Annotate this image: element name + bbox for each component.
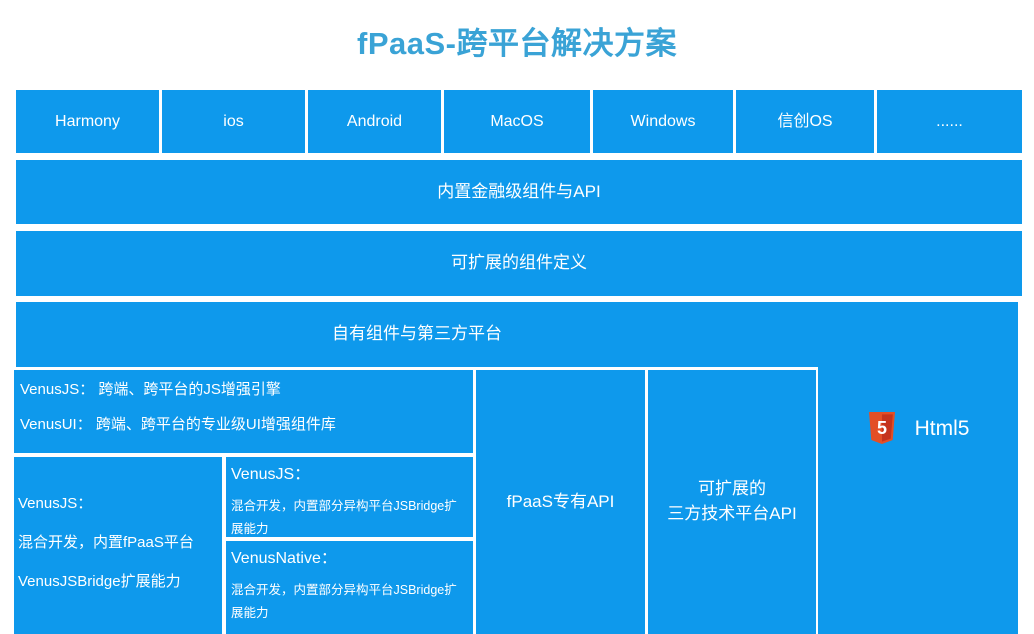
column-label-line-1: 可扩展的 bbox=[667, 477, 796, 502]
html5-badge: 5 Html5 bbox=[818, 412, 1018, 446]
column-label-line-2: 三方技术平台API bbox=[667, 502, 796, 527]
os-cell-label: 信创OS bbox=[777, 110, 832, 133]
bottom-stack-heading: VenusNative： bbox=[231, 547, 468, 570]
os-cell-label: MacOS bbox=[490, 110, 543, 133]
fpaas-architecture-diagram: fPaaS-跨平台解决方案 Harmony ios Android MacOS … bbox=[0, 0, 1034, 634]
os-cell-macos[interactable]: MacOS bbox=[444, 90, 590, 153]
column-fpaas-proprietary-api[interactable]: fPaaS专有API bbox=[476, 370, 645, 634]
html5-icon: 5 bbox=[867, 412, 897, 446]
bottom-left-line-2: 混合开发，内置fPaaS平台 bbox=[18, 532, 218, 554]
venus-summary-line-1: VenusJS： 跨端、跨平台的JS增强引擎 bbox=[20, 379, 467, 401]
bottom-left-line-1: VenusJS： bbox=[18, 493, 218, 515]
venus-summary-line-2: VenusUI： 跨端、跨平台的专业级UI增强组件库 bbox=[20, 414, 467, 436]
band-extensible-component-definition[interactable]: 可扩展的组件定义 bbox=[16, 231, 1022, 296]
os-cell-label: ...... bbox=[936, 110, 963, 133]
band-label: 自有组件与第三方平台 bbox=[332, 322, 502, 347]
os-cell-label: Harmony bbox=[55, 110, 120, 133]
bottom-stack-body: 混合开发，内置部分异构平台JSBridge扩展能力 bbox=[231, 579, 468, 625]
bottom-stack-cell-venusjs[interactable]: VenusJS： 混合开发，内置部分异构平台JSBridge扩展能力 bbox=[226, 457, 473, 537]
os-cell-ios[interactable]: ios bbox=[162, 90, 305, 153]
os-cell-label: Windows bbox=[631, 110, 696, 133]
column-label: fPaaS专有API bbox=[507, 490, 615, 515]
os-cell-more[interactable]: ...... bbox=[877, 90, 1022, 153]
bottom-left-line-3: VenusJSBridge扩展能力 bbox=[18, 571, 218, 593]
page-title: fPaaS-跨平台解决方案 bbox=[0, 18, 1034, 63]
os-cell-xinchuang-os[interactable]: 信创OS bbox=[736, 90, 874, 153]
band-own-components-and-thirdparty-platform[interactable]: 自有组件与第三方平台 bbox=[16, 302, 818, 367]
column-thirdparty-tech-platform-api[interactable]: 可扩展的 三方技术平台API bbox=[648, 370, 816, 634]
os-cell-label: ios bbox=[223, 110, 243, 133]
os-cell-android[interactable]: Android bbox=[308, 90, 441, 153]
html5-label: Html5 bbox=[915, 414, 970, 444]
band-label: 内置金融级组件与API bbox=[437, 180, 600, 205]
os-cell-windows[interactable]: Windows bbox=[593, 90, 733, 153]
column-label-group: 可扩展的 三方技术平台API bbox=[667, 477, 796, 526]
band-label: 可扩展的组件定义 bbox=[451, 251, 587, 276]
bottom-left-venusjs-cell[interactable]: VenusJS： 混合开发，内置fPaaS平台 VenusJSBridge扩展能… bbox=[14, 457, 222, 634]
os-cell-harmony[interactable]: Harmony bbox=[16, 90, 159, 153]
bottom-stack-cell-venusnative[interactable]: VenusNative： 混合开发，内置部分异构平台JSBridge扩展能力 bbox=[226, 541, 473, 634]
venus-summary-cell[interactable]: VenusJS： 跨端、跨平台的JS增强引擎 VenusUI： 跨端、跨平台的专… bbox=[14, 370, 473, 453]
column-html5[interactable]: 5 Html5 bbox=[818, 302, 1018, 634]
band-builtin-financial-components-api[interactable]: 内置金融级组件与API bbox=[16, 160, 1022, 224]
os-cell-label: Android bbox=[347, 110, 402, 133]
bottom-stack-heading: VenusJS： bbox=[231, 463, 468, 486]
bottom-stack-body: 混合开发，内置部分异构平台JSBridge扩展能力 bbox=[231, 495, 468, 541]
html5-logo-digit: 5 bbox=[877, 418, 887, 438]
